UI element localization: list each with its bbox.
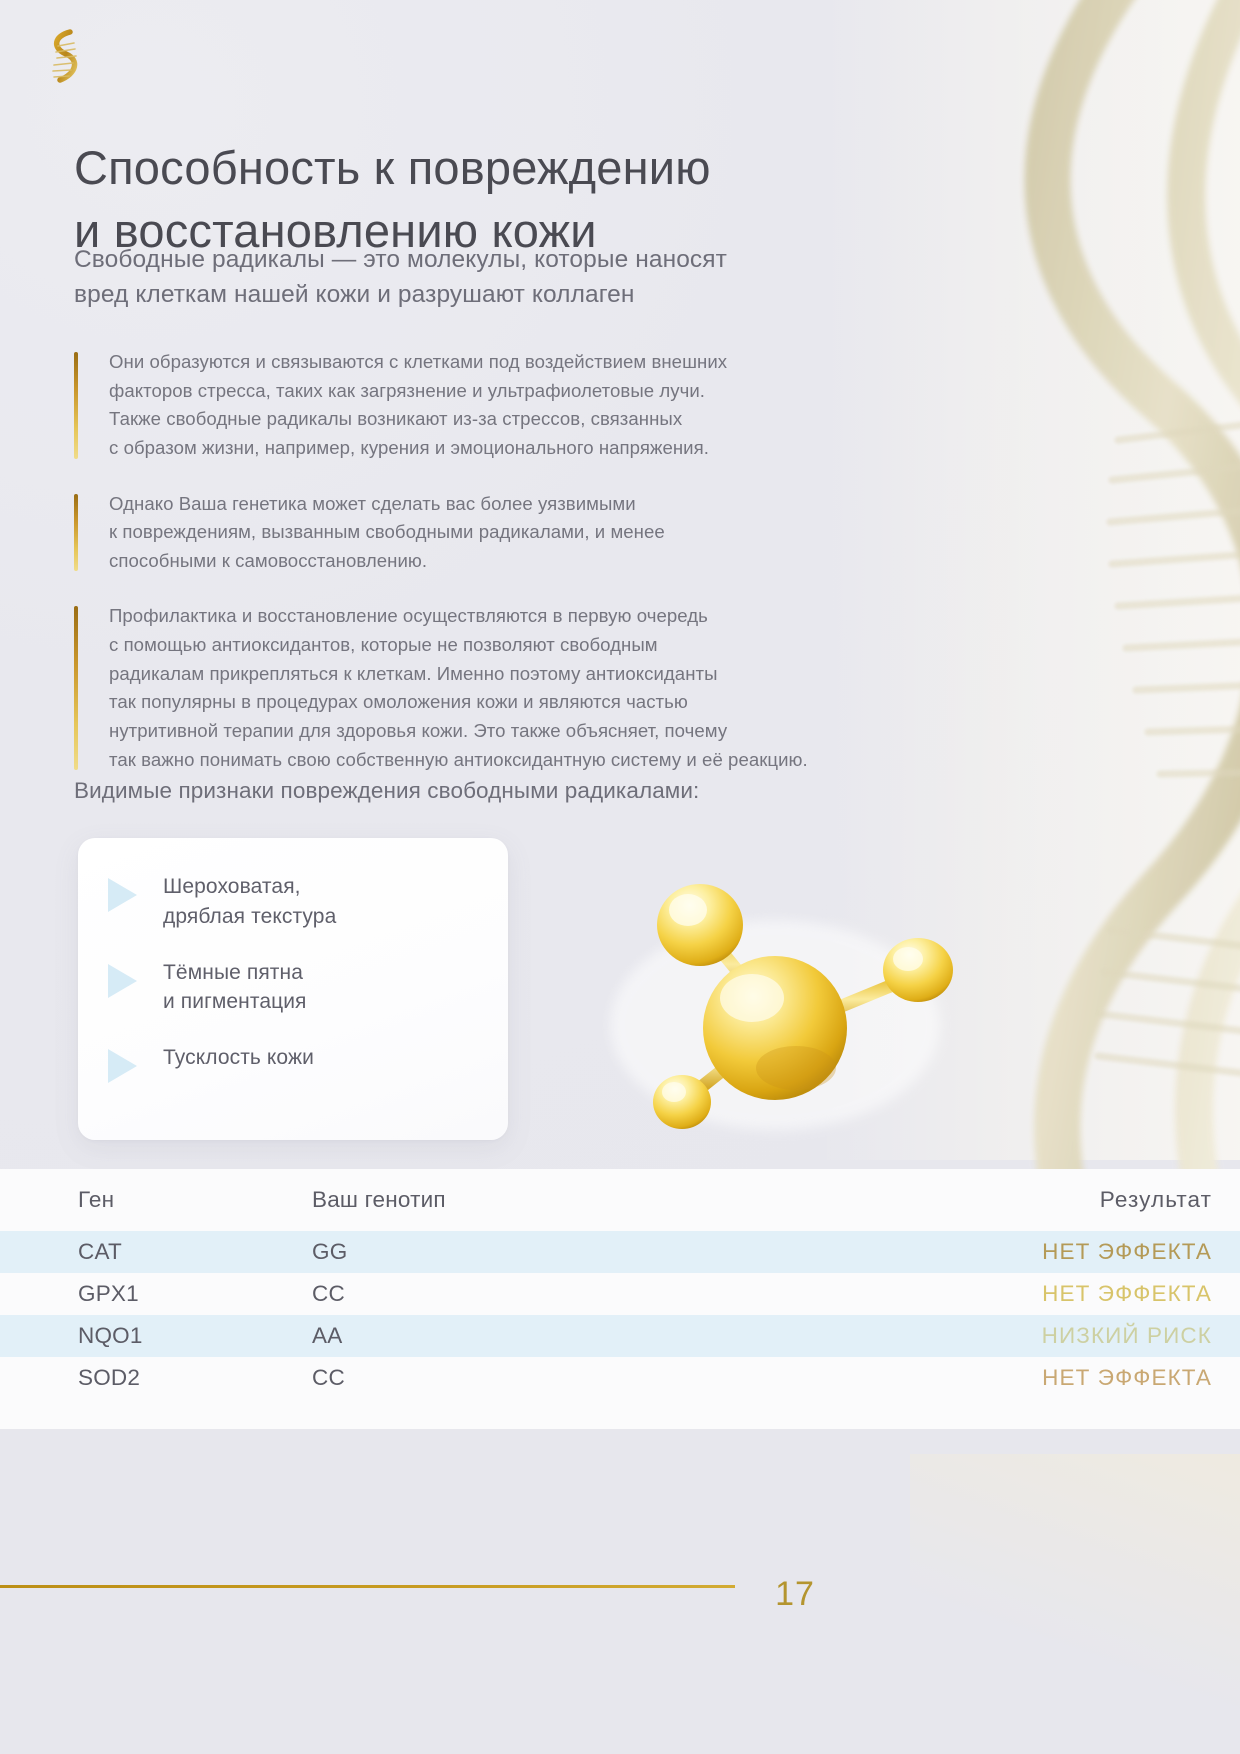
text-line: Однако Ваша генетика может сделать вас б… (109, 490, 944, 519)
text-line: с образом жизни, например, курения и эмо… (109, 434, 944, 463)
cell-gene: CAT (0, 1239, 312, 1265)
info-block: Они образуются и связываются с клетками … (74, 348, 944, 463)
text-line: нутритивной терапии для здоровья кожи. Э… (109, 717, 944, 746)
info-blocks: Они образуются и связываются с клетками … (74, 348, 944, 774)
footer-gold-rule (0, 1585, 735, 1588)
cell-gene: NQO1 (0, 1323, 312, 1349)
list-item-label: Тёмные пятна и пигментация (163, 958, 307, 1018)
page-subtitle-line-1: Свободные радикалы — это молекулы, котор… (74, 243, 954, 278)
list-item-label: Шероховатая, дряблая текстура (163, 872, 336, 932)
cell-result: НЕТ ЭФФЕКТА (712, 1239, 1240, 1265)
text-line: Шероховатая, (163, 872, 336, 902)
text-line: так популярны в процедурах омоложения ко… (109, 688, 944, 717)
info-block-text: Однако Ваша генетика может сделать вас б… (109, 490, 944, 576)
column-header-result: Результат (712, 1187, 1240, 1213)
info-block-text: Профилактика и восстановление осуществля… (109, 602, 944, 774)
cell-gene: GPX1 (0, 1281, 312, 1307)
column-header-genotype: Ваш генотип (312, 1187, 712, 1213)
table-row: CAT GG НЕТ ЭФФЕКТА (0, 1231, 1240, 1273)
triangle-right-icon (108, 964, 137, 998)
cell-result: НИЗКИЙ РИСК (712, 1323, 1240, 1349)
visible-signs-list: Шероховатая, дряблая текстура Тёмные пят… (108, 872, 488, 1083)
page-title-line-1: Способность к повреждению (74, 137, 974, 200)
page-subtitle-line-2: вред клеткам нашей кожи и разрушают колл… (74, 278, 954, 313)
gold-accent-bar (74, 494, 78, 572)
table-row: SOD2 CC НЕТ ЭФФЕКТА (0, 1357, 1240, 1399)
report-page: Способность к повреждению и восстановлен… (0, 0, 1240, 1754)
text-line: так важно понимать свою собственную анти… (109, 746, 944, 775)
page-subtitle: Свободные радикалы — это молекулы, котор… (74, 243, 954, 313)
text-line: Также свободные радикалы возникают из-за… (109, 405, 944, 434)
text-line: и пигментация (163, 987, 307, 1017)
text-line: к повреждениям, вызванным свободными рад… (109, 518, 944, 547)
text-line: дряблая текстура (163, 902, 336, 932)
cell-result: НЕТ ЭФФЕКТА (712, 1281, 1240, 1307)
text-line: Они образуются и связываются с клетками … (109, 348, 944, 377)
gold-molecule-illustration (560, 830, 1010, 1160)
list-item: Шероховатая, дряблая текстура (108, 872, 488, 932)
results-table: Ген Ваш генотип Результат CAT GG НЕТ ЭФФ… (0, 1169, 1240, 1399)
text-line: факторов стресса, таких как загрязнение … (109, 377, 944, 406)
text-line: Профилактика и восстановление осуществля… (109, 602, 944, 631)
cell-genotype: CC (312, 1365, 712, 1391)
table-header-row: Ген Ваш генотип Результат (0, 1169, 1240, 1231)
cell-result: НЕТ ЭФФЕКТА (712, 1365, 1240, 1391)
list-item: Тёмные пятна и пигментация (108, 958, 488, 1018)
text-line: с помощью антиоксидантов, которые не поз… (109, 631, 944, 660)
gold-accent-bar (74, 606, 78, 770)
info-block-text: Они образуются и связываются с клетками … (109, 348, 944, 463)
triangle-right-icon (108, 1049, 137, 1083)
page-footer: 17 (0, 1429, 1240, 1754)
page-number: 17 (735, 1575, 855, 1614)
visible-signs-label: Видимые признаки повреждения свободными … (74, 778, 699, 804)
text-line: Тусклость кожи (163, 1043, 314, 1073)
gold-accent-bar (74, 352, 78, 459)
text-line: Тёмные пятна (163, 958, 307, 988)
footer-background-image (910, 1454, 1240, 1754)
cell-genotype: CC (312, 1281, 712, 1307)
info-block: Однако Ваша генетика может сделать вас б… (74, 490, 944, 576)
cell-genotype: GG (312, 1239, 712, 1265)
info-block: Профилактика и восстановление осуществля… (74, 602, 944, 774)
text-line: способными к самовосстановлению. (109, 547, 944, 576)
table-row: GPX1 CC НЕТ ЭФФЕКТА (0, 1273, 1240, 1315)
text-line: радикалам прикрепляться к клеткам. Именн… (109, 660, 944, 689)
cell-genotype: AA (312, 1323, 712, 1349)
list-item: Тусклость кожи (108, 1043, 488, 1083)
list-item-label: Тусклость кожи (163, 1043, 314, 1073)
visible-signs-card: Шероховатая, дряблая текстура Тёмные пят… (78, 838, 508, 1140)
table-row: NQO1 AA НИЗКИЙ РИСК (0, 1315, 1240, 1357)
dna-helix-icon (40, 26, 88, 88)
cell-gene: SOD2 (0, 1365, 312, 1391)
column-header-gene: Ген (0, 1187, 312, 1213)
triangle-right-icon (108, 878, 137, 912)
